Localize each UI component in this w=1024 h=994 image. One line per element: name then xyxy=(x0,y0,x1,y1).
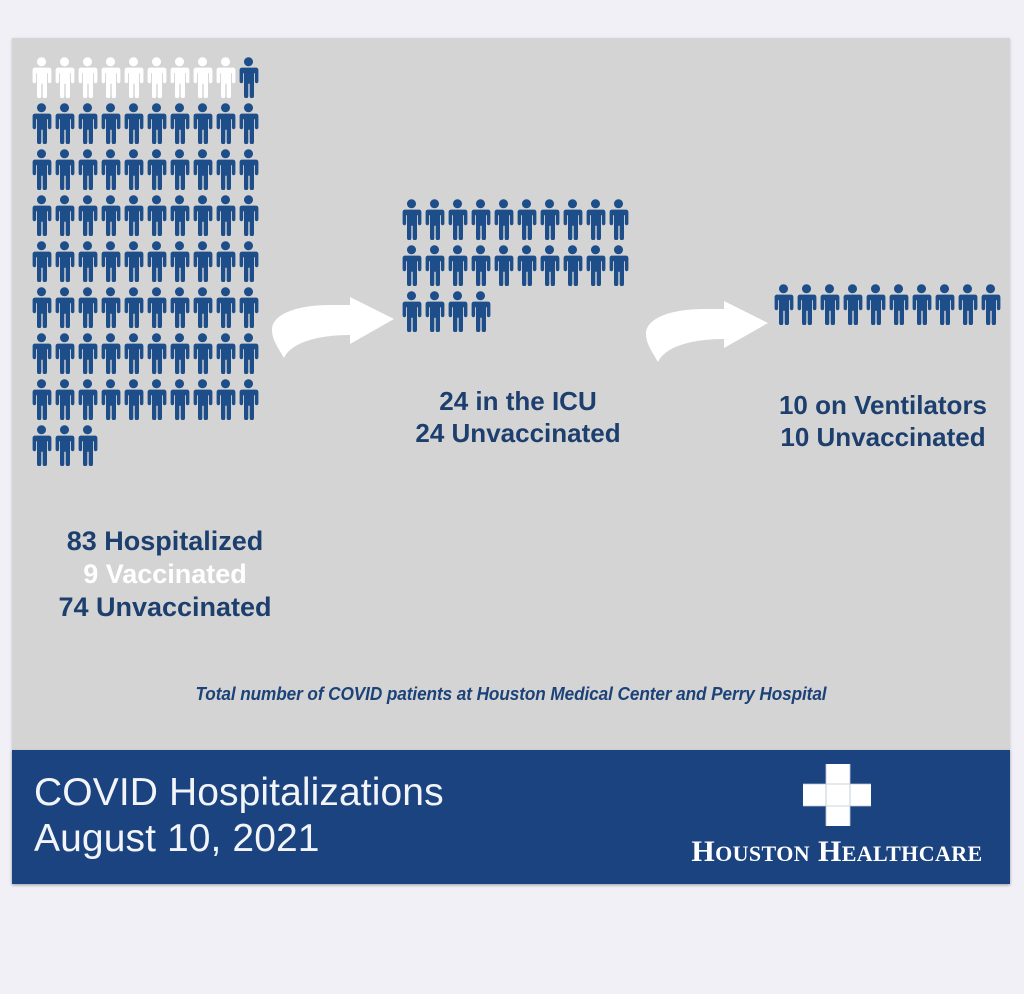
person-icon-unvaccinated xyxy=(515,244,538,286)
arrow-right-icon-2 xyxy=(644,300,770,373)
person-icon-unvaccinated xyxy=(423,290,446,332)
pictogram-row xyxy=(30,240,262,282)
person-icon-vaccinated xyxy=(53,56,76,98)
pictogram-row xyxy=(30,332,262,374)
person-icon-unvaccinated xyxy=(53,102,76,144)
person-icon-unvaccinated xyxy=(538,198,561,240)
person-icon-unvaccinated xyxy=(99,194,122,236)
caption-hospitalized: 83 Hospitalized 9 Vaccinated 74 Unvaccin… xyxy=(20,525,310,624)
person-icon-unvaccinated xyxy=(168,286,191,328)
person-icon-unvaccinated xyxy=(214,378,237,420)
pictogram-row xyxy=(30,56,262,98)
person-icon-unvaccinated xyxy=(237,148,260,190)
person-icon-unvaccinated xyxy=(76,424,99,466)
person-icon-unvaccinated xyxy=(99,378,122,420)
pictogram-row xyxy=(400,198,630,240)
logo-wordmark-h1: H xyxy=(691,835,715,868)
pictogram-row xyxy=(772,283,1002,325)
person-icon-vaccinated xyxy=(99,56,122,98)
person-icon-unvaccinated xyxy=(122,148,145,190)
logo-wordmark-ouston: OUSTON xyxy=(715,841,810,866)
person-icon-unvaccinated xyxy=(168,194,191,236)
person-icon-unvaccinated xyxy=(99,102,122,144)
person-icon-unvaccinated xyxy=(191,286,214,328)
person-icon-unvaccinated xyxy=(191,148,214,190)
person-icon-unvaccinated xyxy=(191,378,214,420)
person-icon-unvaccinated xyxy=(237,56,260,98)
pictogram-row xyxy=(30,148,262,190)
person-icon-unvaccinated xyxy=(841,283,864,325)
pictogram-row xyxy=(30,424,262,466)
person-icon-unvaccinated xyxy=(515,198,538,240)
person-icon-unvaccinated xyxy=(30,378,53,420)
caption-hospitalized-unvaccinated: 74 Unvaccinated xyxy=(20,591,310,624)
person-icon-unvaccinated xyxy=(469,244,492,286)
person-icon-unvaccinated xyxy=(561,244,584,286)
footer-banner: COVID Hospitalizations August 10, 2021 H… xyxy=(12,750,1010,884)
pictogram-row xyxy=(400,290,630,332)
person-icon-unvaccinated xyxy=(76,148,99,190)
logo-wordmark: HOUSTON HEALTHCARE xyxy=(682,835,992,869)
logo-wordmark-h2: H xyxy=(818,835,842,868)
person-icon-unvaccinated xyxy=(30,240,53,282)
person-icon-unvaccinated xyxy=(76,194,99,236)
banner-title-line2: August 10, 2021 xyxy=(34,816,444,862)
person-icon-unvaccinated xyxy=(122,240,145,282)
pictogram-row xyxy=(30,102,262,144)
person-icon-unvaccinated xyxy=(956,283,979,325)
person-icon-unvaccinated xyxy=(400,244,423,286)
person-icon-vaccinated xyxy=(191,56,214,98)
person-icon-vaccinated xyxy=(30,56,53,98)
person-icon-unvaccinated xyxy=(145,102,168,144)
person-icon-unvaccinated xyxy=(237,378,260,420)
person-icon-unvaccinated xyxy=(492,198,515,240)
person-icon-unvaccinated xyxy=(469,198,492,240)
person-icon-vaccinated xyxy=(122,56,145,98)
pictogram-row xyxy=(400,244,630,286)
person-icon-unvaccinated xyxy=(607,244,630,286)
person-icon-unvaccinated xyxy=(145,378,168,420)
person-icon-unvaccinated xyxy=(53,332,76,374)
person-icon-unvaccinated xyxy=(214,194,237,236)
person-icon-unvaccinated xyxy=(237,194,260,236)
person-icon-unvaccinated xyxy=(76,240,99,282)
person-icon-unvaccinated xyxy=(30,148,53,190)
person-icon-unvaccinated xyxy=(122,286,145,328)
person-icon-unvaccinated xyxy=(30,194,53,236)
person-icon-unvaccinated xyxy=(168,102,191,144)
person-icon-unvaccinated xyxy=(122,102,145,144)
person-icon-unvaccinated xyxy=(99,286,122,328)
person-icon-unvaccinated xyxy=(53,240,76,282)
person-icon-unvaccinated xyxy=(979,283,1002,325)
person-icon-unvaccinated xyxy=(122,194,145,236)
person-icon-unvaccinated xyxy=(76,378,99,420)
person-icon-unvaccinated xyxy=(30,102,53,144)
person-icon-vaccinated xyxy=(76,56,99,98)
caption-hospitalized-total: 83 Hospitalized xyxy=(20,525,310,558)
person-icon-unvaccinated xyxy=(145,194,168,236)
person-icon-unvaccinated xyxy=(145,286,168,328)
person-icon-unvaccinated xyxy=(469,290,492,332)
person-icon-unvaccinated xyxy=(168,332,191,374)
person-icon-unvaccinated xyxy=(145,148,168,190)
cross-icon xyxy=(801,764,873,826)
person-icon-unvaccinated xyxy=(76,102,99,144)
houston-healthcare-logo: HOUSTON HEALTHCARE xyxy=(682,764,992,872)
person-icon-unvaccinated xyxy=(99,148,122,190)
footnote-text: Total number of COVID patients at Housto… xyxy=(47,683,975,705)
logo-wordmark-ealthcare: EALTHCARE xyxy=(842,841,983,866)
caption-ventilators-unvaccinated: 10 Unvaccinated xyxy=(747,422,1019,454)
person-icon-unvaccinated xyxy=(584,198,607,240)
person-icon-unvaccinated xyxy=(237,240,260,282)
pictogram-hospitalized xyxy=(30,56,262,470)
person-icon-unvaccinated xyxy=(400,198,423,240)
person-icon-unvaccinated xyxy=(237,286,260,328)
person-icon-unvaccinated xyxy=(191,102,214,144)
caption-hospitalized-vaccinated: 9 Vaccinated xyxy=(20,558,310,591)
pictogram-ventilators xyxy=(772,283,1002,329)
person-icon-unvaccinated xyxy=(214,102,237,144)
person-icon-unvaccinated xyxy=(887,283,910,325)
person-icon-unvaccinated xyxy=(214,332,237,374)
person-icon-unvaccinated xyxy=(30,424,53,466)
person-icon-unvaccinated xyxy=(145,240,168,282)
person-icon-unvaccinated xyxy=(607,198,630,240)
person-icon-unvaccinated xyxy=(584,244,607,286)
person-icon-unvaccinated xyxy=(191,240,214,282)
person-icon-unvaccinated xyxy=(168,240,191,282)
person-icon-unvaccinated xyxy=(191,332,214,374)
person-icon-unvaccinated xyxy=(446,244,469,286)
person-icon-unvaccinated xyxy=(53,378,76,420)
pictogram-icu xyxy=(400,198,630,336)
person-icon-unvaccinated xyxy=(400,290,423,332)
person-icon-unvaccinated xyxy=(864,283,887,325)
person-icon-unvaccinated xyxy=(122,332,145,374)
person-icon-unvaccinated xyxy=(910,283,933,325)
person-icon-unvaccinated xyxy=(237,102,260,144)
person-icon-unvaccinated xyxy=(772,283,795,325)
person-icon-unvaccinated xyxy=(214,148,237,190)
person-icon-unvaccinated xyxy=(168,378,191,420)
person-icon-unvaccinated xyxy=(30,286,53,328)
pictogram-row xyxy=(30,378,262,420)
person-icon-unvaccinated xyxy=(191,194,214,236)
person-icon-unvaccinated xyxy=(818,283,841,325)
person-icon-unvaccinated xyxy=(30,332,53,374)
banner-title-line1: COVID Hospitalizations xyxy=(34,770,444,816)
person-icon-unvaccinated xyxy=(53,424,76,466)
pictogram-row xyxy=(30,194,262,236)
person-icon-unvaccinated xyxy=(795,283,818,325)
person-icon-unvaccinated xyxy=(538,244,561,286)
pictogram-row xyxy=(30,286,262,328)
caption-icu-unvaccinated: 24 Unvaccinated xyxy=(384,418,652,450)
person-icon-unvaccinated xyxy=(99,240,122,282)
person-icon-unvaccinated xyxy=(53,148,76,190)
person-icon-unvaccinated xyxy=(423,244,446,286)
person-icon-vaccinated xyxy=(214,56,237,98)
person-icon-unvaccinated xyxy=(53,194,76,236)
caption-ventilators: 10 on Ventilators 10 Unvaccinated xyxy=(747,390,1019,453)
person-icon-unvaccinated xyxy=(423,198,446,240)
banner-title: COVID Hospitalizations August 10, 2021 xyxy=(34,770,444,861)
person-icon-unvaccinated xyxy=(446,198,469,240)
person-icon-unvaccinated xyxy=(492,244,515,286)
person-icon-unvaccinated xyxy=(76,286,99,328)
person-icon-unvaccinated xyxy=(933,283,956,325)
person-icon-unvaccinated xyxy=(214,240,237,282)
person-icon-vaccinated xyxy=(168,56,191,98)
person-icon-unvaccinated xyxy=(561,198,584,240)
person-icon-unvaccinated xyxy=(168,148,191,190)
person-icon-unvaccinated xyxy=(145,332,168,374)
person-icon-unvaccinated xyxy=(122,378,145,420)
person-icon-unvaccinated xyxy=(237,332,260,374)
caption-ventilators-total: 10 on Ventilators xyxy=(747,390,1019,422)
person-icon-unvaccinated xyxy=(76,332,99,374)
person-icon-unvaccinated xyxy=(53,286,76,328)
person-icon-vaccinated xyxy=(145,56,168,98)
person-icon-unvaccinated xyxy=(446,290,469,332)
arrow-right-icon-1 xyxy=(270,296,396,369)
caption-icu-total: 24 in the ICU xyxy=(384,386,652,418)
person-icon-unvaccinated xyxy=(214,286,237,328)
caption-icu: 24 in the ICU 24 Unvaccinated xyxy=(384,386,652,449)
person-icon-unvaccinated xyxy=(99,332,122,374)
